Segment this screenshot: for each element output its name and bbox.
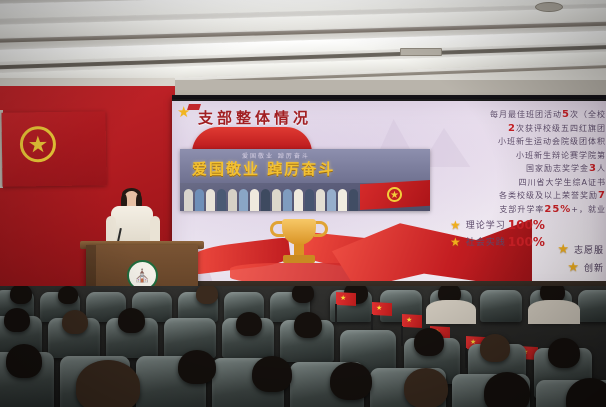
slide-heading: 支部整体情况 [198, 107, 312, 128]
percent-label: 理论学习 [466, 218, 506, 231]
lower-item-row: ★ 创新 [567, 259, 604, 275]
auditorium-scene: ★ ★ 支部整体情况 爱国敬业 踔厉奋斗 爱国敬业 踔厉奋斗 [0, 0, 606, 407]
gold-star-icon: ★ [557, 241, 569, 257]
audience-area: ★ ★ ★ ★ ★ ★ ★ [0, 286, 606, 407]
communist-youth-league-flag-icon: ★ [1, 111, 106, 186]
flag-star-icon: ★ [376, 305, 382, 312]
group-photo-banner: 爱国敬业 踔厉奋斗 爱国敬业 踔厉奋斗 ★ [180, 149, 430, 211]
audience-head [62, 310, 88, 334]
gold-star-icon: ★ [450, 235, 461, 249]
audience-head [252, 356, 292, 392]
banner-main-text: 爱国敬业 踔厉奋斗 [192, 158, 335, 179]
stat-line: 每月最佳班团活动5次（全校 [416, 109, 606, 120]
stat-line: 小班新生辩论赛学院第 [416, 150, 606, 161]
audience-head [58, 286, 78, 304]
seat [578, 290, 606, 322]
audience-head [404, 368, 448, 407]
audience-head [196, 286, 218, 304]
audience-head [294, 312, 322, 338]
stat-line: 2次获评校级五四红旗团 [416, 123, 606, 134]
ceiling-speaker [535, 2, 563, 12]
audience-head [118, 308, 145, 333]
flag-stick [465, 348, 467, 368]
audience-head [292, 286, 314, 303]
audience-head [414, 328, 444, 356]
flag-stick [335, 304, 337, 324]
seat [480, 290, 522, 322]
trophy-base [283, 255, 315, 263]
lower-item-label: 志愿服 [574, 243, 604, 256]
gold-star-icon: ★ [450, 218, 461, 232]
audience-shoulders [426, 300, 476, 324]
audience-head [480, 334, 510, 362]
audience-head [4, 308, 30, 332]
audience-head [548, 338, 580, 368]
flag-star-icon: ★ [26, 132, 50, 156]
stat-line: 国家励志奖学金3人 [416, 163, 606, 174]
audience-head [6, 344, 42, 378]
audience-head [10, 286, 32, 304]
audience-head [76, 360, 140, 407]
slide-stats-column: 每月最佳班团活动5次（全校 2次获评校级五四红旗团 小班新生运动会院级团体积 小… [416, 109, 606, 249]
audience-head [484, 372, 530, 407]
stat-line: 各类校级及以上荣誉奖励7 [416, 190, 606, 201]
led-presentation-screen: ★ 支部整体情况 爱国敬业 踔厉奋斗 爱国敬业 踔厉奋斗 ★ [172, 99, 606, 297]
flag-star-icon: ★ [340, 295, 346, 302]
audience-head [178, 350, 216, 384]
percent-label: 社会实践 [466, 235, 506, 248]
lower-item-label: 创新 [584, 261, 604, 274]
stat-line: 支部升学率25%+，就业 [416, 204, 606, 215]
ceiling-vent [400, 48, 442, 56]
percent-value: 100% [508, 235, 545, 249]
emblem-glyph: ⛪ [134, 269, 150, 282]
audience-head [236, 312, 262, 336]
banner-flag-star-icon: ★ [389, 190, 400, 201]
stat-line: 四川省大学生综A证书 [416, 177, 606, 188]
percent-row: ★ 理论学习 100% [450, 218, 606, 232]
audience-head [330, 362, 372, 400]
stat-line: 小班新生运动会院级团体积 [416, 136, 606, 147]
flag-stick [401, 326, 403, 346]
gold-star-icon: ★ [567, 259, 579, 275]
audience-shoulders [528, 300, 580, 324]
flag-star-icon: ★ [406, 317, 412, 324]
percent-value: 100% [508, 218, 545, 232]
lower-item-row: ★ 志愿服 [557, 241, 604, 257]
